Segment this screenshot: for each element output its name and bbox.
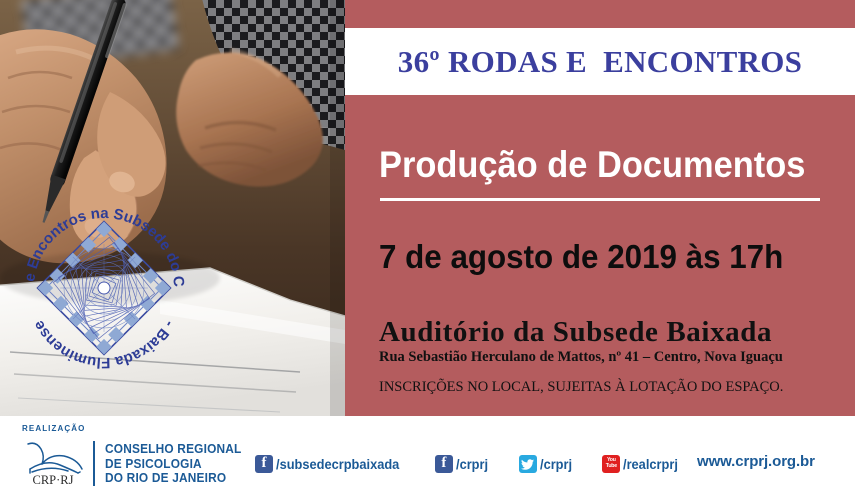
twitter-bird-glyph [521, 459, 534, 470]
social-link-facebook-crprj[interactable]: f /crprj [435, 455, 490, 473]
registration-note: INSCRIÇÕES NO LOCAL, SUJEITAS À LOTAÇÃO … [379, 379, 783, 396]
title-underline-rule [380, 198, 820, 201]
crp-rj-logo: CRP·RJ [20, 440, 86, 486]
org-line-2: DE PSICOLOGIA [105, 457, 242, 472]
facebook-icon: f [255, 455, 273, 473]
twitter-icon [519, 455, 537, 473]
event-date: 7 de agosto de 2019 às 17h [379, 238, 783, 276]
series-title: 36º RODAS E ENCONTROS [398, 44, 802, 80]
facebook-crprj-handle: /crprj [456, 457, 488, 472]
twitter-crprj-handle: /crprj [540, 457, 572, 472]
event-seal-logo: Rodas e Encontros na Subsede do CRP-RJ -… [6, 190, 202, 386]
facebook-glyph: f [262, 456, 267, 471]
youtube-realcrprj-handle: /realcrprj [623, 457, 678, 472]
facebook-glyph: f [441, 456, 446, 471]
facebook-icon: f [435, 455, 453, 473]
organization-name: CONSELHO REGIONAL DE PSICOLOGIA DO RIO D… [105, 442, 242, 486]
photo-panel: Rodas e Encontros na Subsede do CRP-RJ -… [0, 0, 345, 416]
crp-rj-logo-mark: CRP·RJ [20, 440, 86, 486]
social-link-twitter-crprj[interactable]: /crprj [519, 455, 574, 473]
org-line-1: CONSELHO REGIONAL [105, 442, 242, 457]
social-link-youtube-realcrprj[interactable]: You Tube /realcrprj [602, 455, 681, 473]
event-flyer: Rodas e Encontros na Subsede do CRP-RJ -… [0, 0, 855, 500]
facebook-subsede-handle: /subsedecrpbaixada [276, 457, 399, 472]
seal-svg: Rodas e Encontros na Subsede do CRP-RJ -… [6, 190, 202, 386]
venue-address: Rua Sebastião Herculano de Mattos, nº 41… [379, 349, 783, 366]
youtube-glyph: You Tube [606, 458, 617, 469]
social-links: f /subsedecrpbaixada f /crprj /crprj You [255, 452, 681, 476]
event-title: Produção de Documentos [379, 143, 798, 187]
crp-rj-wordmark: CRP·RJ [33, 473, 74, 486]
website-url[interactable]: www.crprj.org.br [697, 453, 815, 470]
header-band: 36º RODAS E ENCONTROS [345, 28, 855, 95]
venue-name: Auditório da Subsede Baixada [379, 316, 772, 348]
youtube-icon: You Tube [602, 455, 620, 473]
social-link-facebook-subsede[interactable]: f /subsedecrpbaixada [255, 455, 406, 473]
youtube-glyph-line-2: Tube [606, 464, 617, 470]
realizacao-label: REALIZAÇÃO [22, 424, 85, 433]
org-line-3: DO RIO DE JANEIRO [105, 471, 242, 486]
logo-divider [93, 441, 95, 486]
